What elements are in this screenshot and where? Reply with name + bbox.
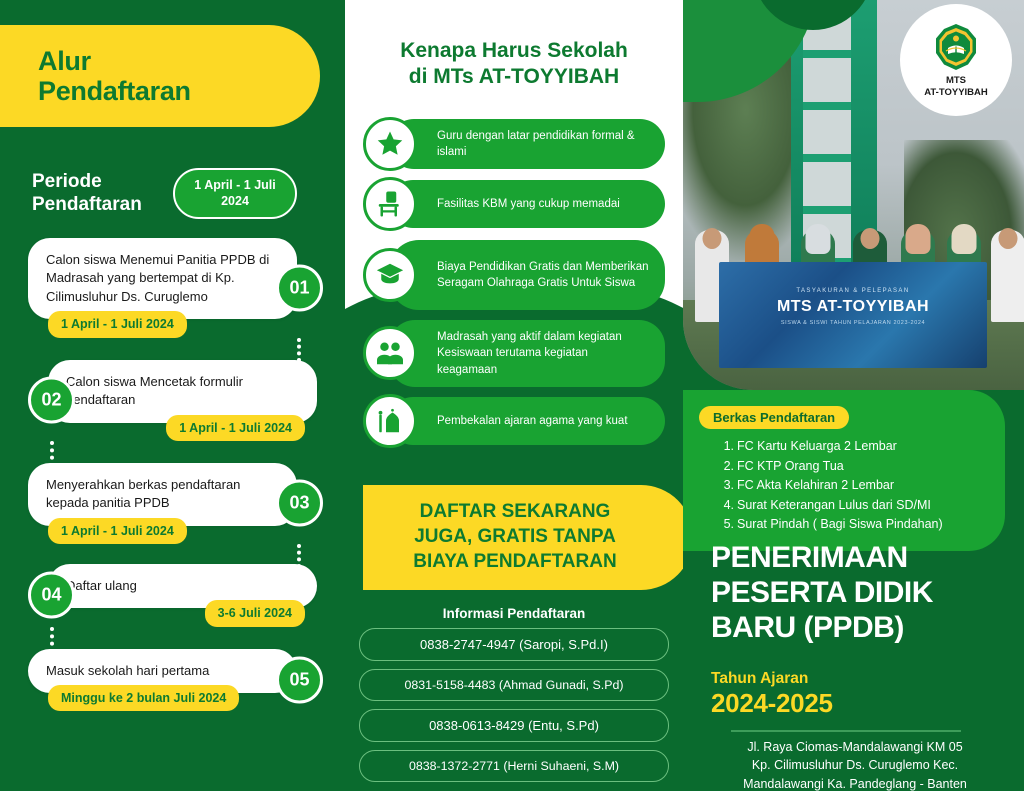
photo-student-head xyxy=(861,228,880,249)
middle-column: Kenapa Harus Sekolah di MTs AT-TOYYIBAH … xyxy=(345,0,683,791)
step-card: Calon siswa Menemui Panitia PPDB di Madr… xyxy=(28,238,297,319)
step-text: Calon siswa Mencetak formulir pendaftara… xyxy=(66,374,243,407)
step-date-row: 1 April - 1 Juli 2024 xyxy=(0,319,345,337)
berkas-item: 1.FC Kartu Keluarga 2 Lembar xyxy=(717,437,991,457)
cta-line2: JUGA, GRATIS TANPA xyxy=(413,525,616,550)
why-school-title-line2: di MTs AT-TOYYIBAH xyxy=(345,64,683,90)
ppdb-headline: PENERIMAAN PESERTA DIDIK BARU (PPDB) xyxy=(711,540,1021,645)
alur-banner-text: Alur Pendaftaran xyxy=(38,46,191,106)
ppdb-poster: Alur Pendaftaran Periode Pendaftaran 1 A… xyxy=(0,0,1024,791)
logo-line1: MTS xyxy=(924,75,988,86)
why-school-title: Kenapa Harus Sekolah di MTs AT-TOYYIBAH xyxy=(345,38,683,89)
timeline-step-02: Calon siswa Mencetak formulir pendaftara… xyxy=(0,360,345,441)
features-list: Guru dengan latar pendidikan formal & is… xyxy=(363,118,665,455)
berkas-title-badge: Berkas Pendaftaran xyxy=(699,406,849,429)
berkas-item-text: Surat Keterangan Lulus dari SD/MI xyxy=(737,498,931,512)
periode-pendaftaran-row: Periode Pendaftaran 1 April - 1 Juli 202… xyxy=(32,168,332,219)
step-number-badge: 05 xyxy=(276,656,323,703)
timeline-connector xyxy=(297,544,301,568)
mosque-icon xyxy=(363,394,417,448)
timeline-step-05: Masuk sekolah hari pertama 05 Minggu ke … xyxy=(0,649,345,712)
feature-text: Madrasah yang aktif dalam kegiatan Kesis… xyxy=(389,320,665,387)
feature-text: Guru dengan latar pendidikan formal & is… xyxy=(389,119,665,170)
timeline-connector xyxy=(50,441,54,467)
feature-item: Madrasah yang aktif dalam kegiatan Kesis… xyxy=(363,320,665,387)
timeline-step-03: Menyerahkan berkas pendaftaran kepada pa… xyxy=(0,463,345,544)
photo-banner-main-text: MTS AT-TOYYIBAH xyxy=(719,298,987,316)
address-line3: Mandalawangi Ka. Pandeglang - Banten xyxy=(695,775,1015,791)
periode-date-pill: 1 April - 1 Juli 2024 xyxy=(173,168,297,219)
address-line2: Kp. Cilimusluhur Ds. Curuglemo Kec. xyxy=(695,756,1015,774)
photo-student-hijab xyxy=(952,224,977,254)
berkas-item: 4.Surat Keterangan Lulus dari SD/MI xyxy=(717,496,991,516)
step-text: Masuk sekolah hari pertama xyxy=(46,663,209,678)
cta-banner: DAFTAR SEKARANG JUGA, GRATIS TANPA BIAYA… xyxy=(363,485,683,590)
step-date-badge: Minggu ke 2 bulan Juli 2024 xyxy=(48,685,239,711)
feature-item: Pembekalan ajaran agama yang kuat xyxy=(363,395,665,447)
address-divider xyxy=(731,730,961,732)
photo-event-banner: TASYAKURAN & PELEPASAN MTS AT-TOYYIBAH S… xyxy=(719,262,987,368)
timeline-connector xyxy=(50,627,54,653)
step-text: Daftar ulang xyxy=(66,578,137,593)
cta-line1: DAFTAR SEKARANG xyxy=(413,500,616,525)
berkas-item: 2.FC KTP Orang Tua xyxy=(717,457,991,477)
step-text: Menyerahkan berkas pendaftaran kepada pa… xyxy=(46,477,240,510)
cta-line3: BIAYA PENDAFTARAN xyxy=(413,550,616,575)
step-date-badge: 1 April - 1 Juli 2024 xyxy=(166,415,305,441)
berkas-item-text: FC Kartu Keluarga 2 Lembar xyxy=(737,439,897,453)
why-school-title-line1: Kenapa Harus Sekolah xyxy=(345,38,683,64)
timeline-connector xyxy=(297,338,301,362)
feature-text: Fasilitas KBM yang cukup memadai xyxy=(389,180,665,228)
berkas-item-number: 3. xyxy=(717,476,734,496)
tahun-ajaran-value: 2024-2025 xyxy=(711,688,833,719)
photo-banner-small-text: TASYAKURAN & PELEPASAN xyxy=(719,288,987,294)
berkas-item-text: FC Akta Kelahiran 2 Lembar xyxy=(737,478,894,492)
people-icon xyxy=(363,326,417,380)
ppdb-line1: PENERIMAAN xyxy=(711,540,1021,575)
timeline-step-04: Daftar ulang 04 3-6 Juli 2024 xyxy=(0,564,345,627)
photo-student-hijab xyxy=(806,224,831,254)
step-date-badge: 1 April - 1 Juli 2024 xyxy=(48,518,187,544)
registration-timeline: Calon siswa Menemui Panitia PPDB di Madr… xyxy=(0,238,345,715)
periode-label-line1: Periode xyxy=(32,171,167,193)
cta-text: DAFTAR SEKARANG JUGA, GRATIS TANPA BIAYA… xyxy=(413,500,616,574)
ppdb-line2: PESERTA DIDIK xyxy=(711,575,1021,610)
contact-item[interactable]: 0838-1372-2771 (Herni Suhaeni, S.M) xyxy=(359,750,669,782)
feature-item: Fasilitas KBM yang cukup memadai xyxy=(363,178,665,230)
step-card: Calon siswa Mencetak formulir pendaftara… xyxy=(48,360,317,423)
feature-text: Biaya Pendidikan Gratis dan Memberikan S… xyxy=(389,240,665,310)
photo-student-hijab xyxy=(750,224,775,254)
step-text: Calon siswa Menemui Panitia PPDB di Madr… xyxy=(46,252,269,304)
contact-item[interactable]: 0838-2747-4947 (Saropi, S.Pd.I) xyxy=(359,628,669,661)
school-logo-badge: MTS AT-TOYYIBAH xyxy=(900,4,1012,116)
step-card: Menyerahkan berkas pendaftaran kepada pa… xyxy=(28,463,297,526)
berkas-item-number: 1. xyxy=(717,437,734,457)
right-column: TASYAKURAN & PELEPASAN MTS AT-TOYYIBAH S… xyxy=(683,0,1024,791)
graduation-cap-icon xyxy=(363,248,417,302)
berkas-item-text: Surat Pindah ( Bagi Siswa Pindahan) xyxy=(737,517,943,531)
tahun-ajaran-label: Tahun Ajaran xyxy=(711,670,808,688)
timeline-step-01: Calon siswa Menemui Panitia PPDB di Madr… xyxy=(0,238,345,338)
alur-pendaftaran-banner: Alur Pendaftaran xyxy=(0,25,320,127)
feature-item: Biaya Pendidikan Gratis dan Memberikan S… xyxy=(363,238,665,312)
address-line1: Jl. Raya Ciomas-Mandalawangi KM 05 xyxy=(695,738,1015,756)
photo-student-head xyxy=(703,228,722,249)
berkas-item: 3.FC Akta Kelahiran 2 Lembar xyxy=(717,476,991,496)
berkas-items-list: 1.FC Kartu Keluarga 2 Lembar 2.FC KTP Or… xyxy=(699,437,991,535)
berkas-pendaftaran-panel: Berkas Pendaftaran 1.FC Kartu Keluarga 2… xyxy=(683,390,1005,551)
school-address: Jl. Raya Ciomas-Mandalawangi KM 05 Kp. C… xyxy=(695,738,1015,791)
step-date-row: 1 April - 1 Juli 2024 xyxy=(0,526,345,544)
informasi-pendaftaran-title: Informasi Pendaftaran xyxy=(345,606,683,621)
contact-list: 0838-2747-4947 (Saropi, S.Pd.I) 0831-515… xyxy=(359,628,669,790)
step-date-row: 1 April - 1 Juli 2024 xyxy=(0,423,345,441)
feature-item: Guru dengan latar pendidikan formal & is… xyxy=(363,118,665,170)
mts-at-toyyibah-emblem-icon xyxy=(931,22,981,72)
berkas-item-text: FC KTP Orang Tua xyxy=(737,459,844,473)
logo-line2: AT-TOYYIBAH xyxy=(924,87,988,98)
periode-label-line2: Pendaftaran xyxy=(32,194,167,216)
berkas-item-number: 5. xyxy=(717,515,734,535)
step-number-badge: 03 xyxy=(276,480,323,527)
step-number-badge: 01 xyxy=(276,264,323,311)
photo-student xyxy=(991,230,1024,322)
feature-text: Pembekalan ajaran agama yang kuat xyxy=(389,397,665,445)
ppdb-line3: BARU (PPDB) xyxy=(711,610,1021,645)
berkas-item-number: 2. xyxy=(717,457,734,477)
photo-student-hijab xyxy=(906,224,931,254)
step-number-badge: 04 xyxy=(28,572,75,619)
contact-item[interactable]: 0831-5158-4483 (Ahmad Gunadi, S.Pd) xyxy=(359,669,669,701)
left-column: Alur Pendaftaran Periode Pendaftaran 1 A… xyxy=(0,0,345,791)
star-icon xyxy=(363,117,417,171)
contact-item[interactable]: 0838-0613-8429 (Entu, S.Pd) xyxy=(359,709,669,742)
photo-student-head xyxy=(999,228,1018,249)
photo-banner-sub-text: SISWA & SISWI TAHUN PELAJARAN 2023-2024 xyxy=(719,320,987,326)
berkas-item-number: 4. xyxy=(717,496,734,516)
step-date-text: Minggu ke 2 bulan Juli 2024 xyxy=(61,691,226,705)
alur-banner-line1: Alur xyxy=(38,46,191,76)
berkas-item: 5.Surat Pindah ( Bagi Siswa Pindahan) xyxy=(717,515,991,535)
step-date-badge: 1 April - 1 Juli 2024 xyxy=(48,311,187,337)
periode-label: Periode Pendaftaran xyxy=(32,171,167,216)
step-number-badge: 02 xyxy=(28,377,75,424)
school-desk-icon xyxy=(363,177,417,231)
step-date-badge: 3-6 Juli 2024 xyxy=(205,600,305,626)
school-logo-text: MTS AT-TOYYIBAH xyxy=(924,75,988,97)
alur-banner-line2: Pendaftaran xyxy=(38,76,191,106)
